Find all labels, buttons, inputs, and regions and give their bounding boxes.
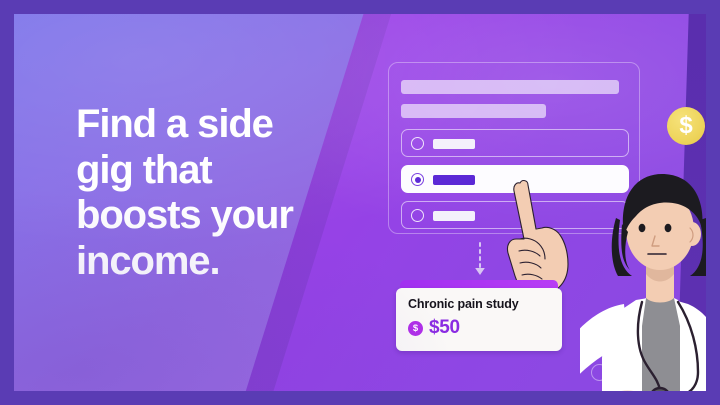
radio-dot xyxy=(415,177,421,183)
doctor-character xyxy=(580,158,706,391)
radio-button-icon[interactable] xyxy=(411,137,424,150)
study-card[interactable]: Chronic pain study $ $50 xyxy=(396,280,562,351)
headline-line-2: gig that xyxy=(76,148,336,194)
pointing-hand-icon xyxy=(498,169,590,294)
headline-line-1: Find a side xyxy=(76,102,336,148)
radio-button-icon[interactable] xyxy=(411,209,424,222)
coin-icon: $ xyxy=(408,321,423,336)
question-subtitle-placeholder-bar xyxy=(401,104,546,118)
card-price: $50 xyxy=(429,317,460,339)
radio-button-selected-icon[interactable] xyxy=(411,173,424,186)
card-body: Chronic pain study $ $50 xyxy=(396,288,562,351)
page-title: Find a side gig that boosts your income. xyxy=(76,102,336,284)
card-price-row: $ $50 xyxy=(408,317,460,339)
dotted-down-arrow-icon xyxy=(473,242,487,278)
headline-line-4: income. xyxy=(76,239,336,285)
card-title: Chronic pain study xyxy=(408,297,519,311)
answer-option-label-3 xyxy=(433,211,475,221)
answer-option-label-2 xyxy=(433,175,475,185)
answer-option-row-1[interactable] xyxy=(401,129,629,157)
promo-banner: Find a side gig that boosts your income. xyxy=(0,0,720,405)
question-title-placeholder-bar xyxy=(401,80,619,94)
banner-stage: Find a side gig that boosts your income. xyxy=(14,14,706,391)
headline-line-3: boosts your xyxy=(76,193,336,239)
gold-coin-icon: $ xyxy=(667,107,705,145)
answer-option-label-1 xyxy=(433,139,475,149)
